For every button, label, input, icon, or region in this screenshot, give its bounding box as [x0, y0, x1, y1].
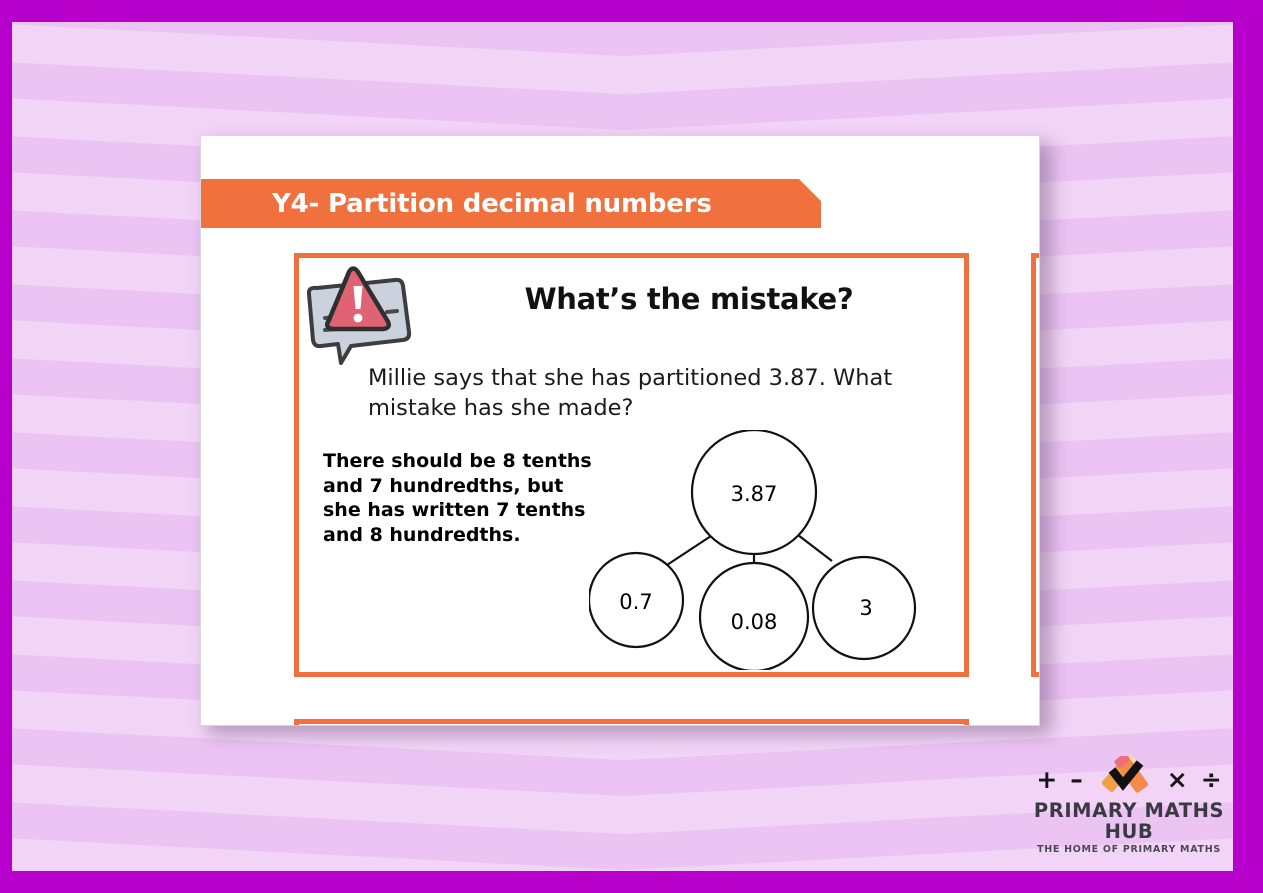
- divide-icon: ÷: [1201, 767, 1222, 792]
- page-root: Y4- Partition decimal numbers: [0, 0, 1263, 893]
- part-whole-diagram: 3.87 0.7 0.08 3: [589, 430, 919, 666]
- content-card: What’s the mistake? Millie says that she…: [294, 253, 969, 677]
- slide-canvas: Y4- Partition decimal numbers: [200, 135, 1040, 726]
- chevron-stripe: [12, 56, 1233, 130]
- slide-title-text: Y4- Partition decimal numbers: [201, 189, 712, 219]
- multiply-icon: ×: [1167, 767, 1188, 792]
- slide-title-banner: Y4- Partition decimal numbers: [201, 179, 821, 228]
- next-slide-card-right-peek: [1031, 253, 1040, 677]
- next-slide-card-bottom-peek: [294, 719, 969, 726]
- pencil-checkmark-icon: [1096, 756, 1154, 796]
- page-title: What’s the mistake?: [429, 282, 949, 316]
- plus-icon: +: [1036, 767, 1057, 792]
- answer-text: There should be 8 tenths and 7 hundredth…: [323, 449, 593, 548]
- chevron-stripe: [12, 22, 1233, 56]
- warning-speech-bubble-icon: [307, 264, 415, 368]
- part-whole-label-part: 0.08: [731, 610, 778, 634]
- minus-icon: –: [1070, 767, 1083, 792]
- part-whole-label-whole: 3.87: [731, 482, 778, 506]
- logo-tagline: THE HOME OF PRIMARY MATHS: [1024, 844, 1234, 855]
- chevron-stripe: [12, 870, 1233, 871]
- part-whole-label-part: 3: [859, 596, 872, 620]
- part-whole-label-part: 0.7: [619, 590, 652, 614]
- question-text: Millie says that she has partitioned 3.8…: [368, 364, 958, 423]
- logo-symbol-row: + – × ÷: [1024, 758, 1234, 800]
- brand-logo: + – × ÷: [1024, 758, 1234, 840]
- logo-name: PRIMARY MATHS HUB: [1024, 800, 1234, 843]
